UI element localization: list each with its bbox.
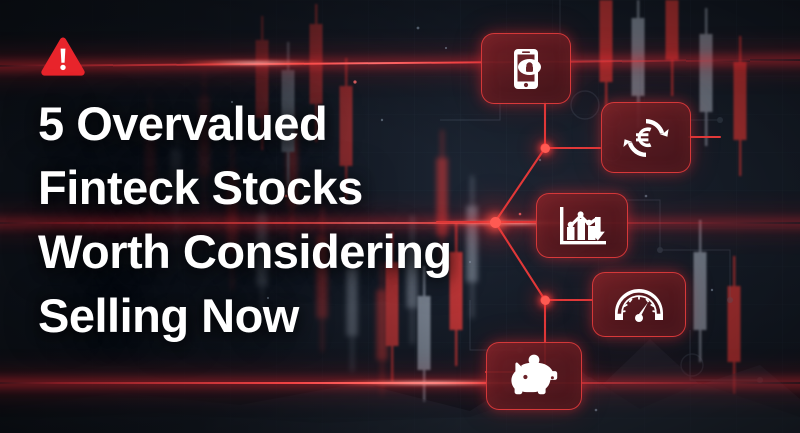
headline-line-4: Selling Now bbox=[38, 284, 508, 348]
euro-exchange-icon bbox=[623, 115, 669, 161]
network-junction-dot-lower bbox=[541, 296, 550, 305]
icon-card-euro-exchange[interactable] bbox=[601, 102, 691, 173]
page-title: 5 Overvalued Finteck Stocks Worth Consid… bbox=[38, 92, 508, 348]
speedometer-gauge-icon bbox=[614, 287, 664, 323]
headline-line-2: Finteck Stocks bbox=[38, 156, 508, 220]
headline-line-3: Worth Considering bbox=[38, 220, 508, 284]
headline-line-1: 5 Overvalued bbox=[38, 92, 508, 156]
banner-canvas: 5 Overvalued Finteck Stocks Worth Consid… bbox=[0, 0, 800, 433]
mobile-phone-payment-icon bbox=[507, 47, 545, 91]
icon-card-declining-chart[interactable] bbox=[536, 193, 628, 258]
icon-card-piggy-bank[interactable] bbox=[486, 342, 582, 410]
declining-bar-chart-icon bbox=[556, 205, 608, 247]
icon-card-gauge[interactable] bbox=[592, 272, 686, 337]
warning-triangle-icon bbox=[40, 36, 86, 78]
piggy-bank-icon bbox=[509, 354, 559, 398]
network-junction-dot-upper bbox=[541, 144, 550, 153]
